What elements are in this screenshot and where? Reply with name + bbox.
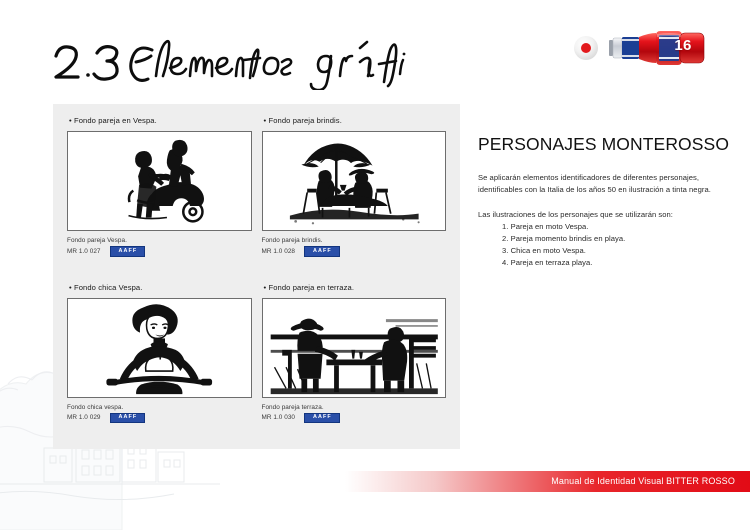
info-list: 1. Pareja en moto Vespa. 2. Pareja momen… (478, 221, 728, 270)
illustration-frame[interactable] (262, 298, 447, 398)
gallery-item-code: MR 1.0 027 (67, 247, 101, 256)
gallery-item-code: MR 1.0 028 (262, 247, 296, 256)
gallery-item-caption: Fondo pareja Vespa. (67, 236, 252, 245)
gallery-item-code: MR 1.0 029 (67, 413, 101, 422)
aaff-badge[interactable]: AAFF (110, 413, 146, 423)
list-item: 2. Pareja momento brindis en playa. (502, 233, 728, 245)
gallery-item-chica-vespa: • Fondo chica Vespa. (67, 283, 252, 442)
gallery-item-heading: • Fondo pareja en terraza. (264, 283, 447, 292)
footer-text: Manual de Identidad Visual BITTER ROSSO (551, 471, 735, 492)
list-item: 4. Pareja en terraza playa. (502, 257, 728, 269)
info-intro-paragraph: Se aplicarán elementos identificadores d… (478, 172, 728, 197)
page-title: 2.3 Elementos gráficos (48, 28, 408, 90)
couple-on-vespa-illustration-icon (68, 132, 251, 230)
gallery-item-pareja-brindis: • Fondo pareja brindis. (262, 116, 447, 275)
gallery-item-caption: Fondo chica vespa. (67, 403, 252, 412)
list-item: 3. Chica en moto Vespa. (502, 245, 728, 257)
couple-toasting-under-beach-umbrella-illustration-icon (263, 132, 446, 230)
girl-on-vespa-illustration-icon (68, 299, 251, 397)
red-dot-marker-icon (574, 36, 598, 60)
info-list-lead: Las ilustraciones de los personajes que … (478, 210, 728, 219)
info-column: PERSONAJES MONTEROSSO Se aplicarán eleme… (478, 134, 728, 269)
gallery-item-heading: • Fondo pareja en Vespa. (69, 116, 252, 125)
illustration-frame[interactable] (67, 131, 252, 231)
gallery-item-heading: • Fondo pareja brindis. (264, 116, 447, 125)
couple-at-terrace-table-illustration-icon (263, 299, 446, 397)
aaff-badge[interactable]: AAFF (304, 413, 340, 423)
footer-bar: Manual de Identidad Visual BITTER ROSSO (345, 471, 750, 492)
gallery-item-pareja-vespa: • Fondo pareja en Vespa. (67, 116, 252, 275)
gallery-item-code: MR 1.0 030 (262, 413, 296, 422)
page-number: 16 (670, 34, 696, 58)
list-item: 1. Pareja en moto Vespa. (502, 221, 728, 233)
aaff-badge[interactable]: AAFF (110, 246, 146, 256)
illustration-frame[interactable] (67, 298, 252, 398)
handwritten-section-title-icon (48, 28, 408, 90)
gallery-item-caption: Fondo pareja brindis. (262, 236, 447, 245)
gallery-item-pareja-terraza: • Fondo pareja en terraza. (262, 283, 447, 442)
illustration-frame[interactable] (262, 131, 447, 231)
info-title: PERSONAJES MONTEROSSO (478, 134, 728, 155)
illustration-gallery-panel: • Fondo pareja en Vespa. (53, 104, 460, 449)
gallery-item-caption: Fondo pareja terraza. (262, 403, 447, 412)
gallery-item-heading: • Fondo chica Vespa. (69, 283, 252, 292)
aaff-badge[interactable]: AAFF (304, 246, 340, 256)
